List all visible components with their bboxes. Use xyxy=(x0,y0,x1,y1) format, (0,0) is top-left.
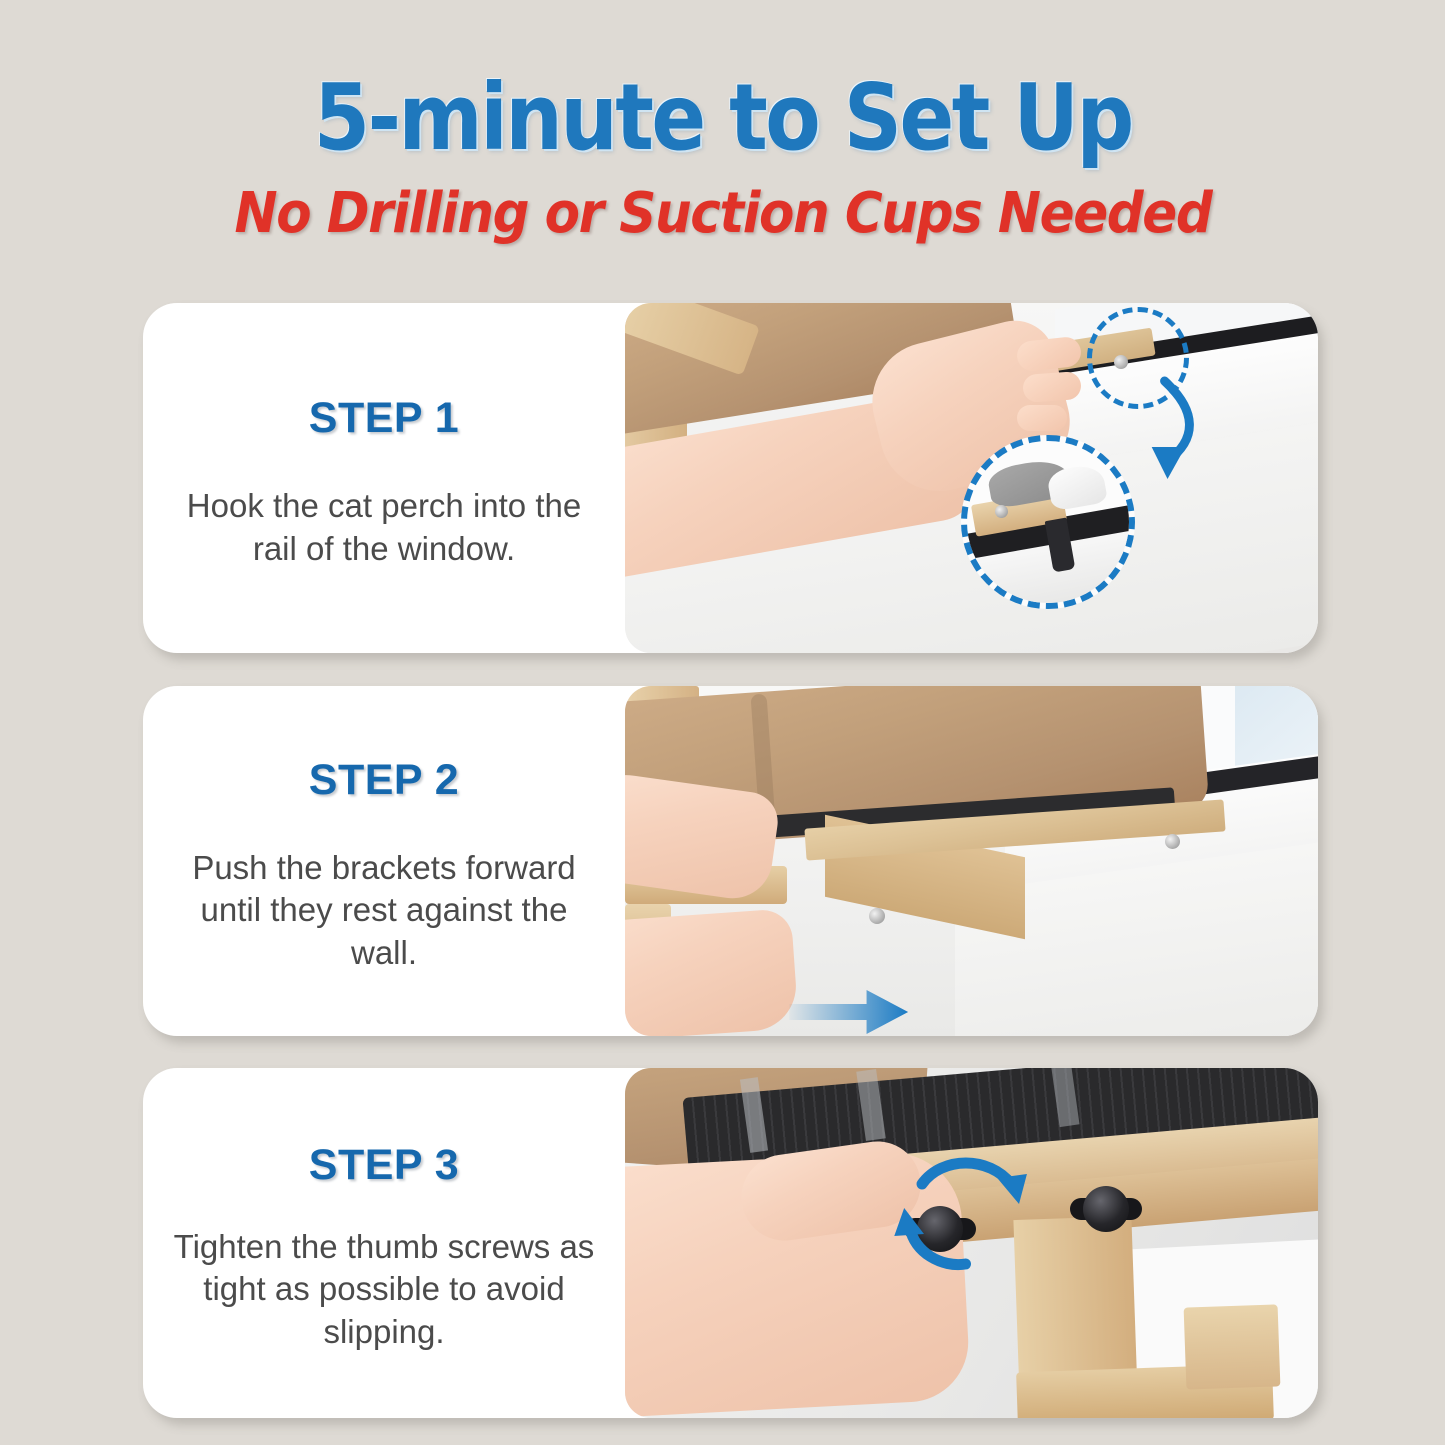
step-1-description: Hook the cat perch into the rail of the … xyxy=(164,485,604,569)
screw-icon xyxy=(869,908,885,924)
screw-icon xyxy=(1165,834,1180,849)
step-1-photo xyxy=(625,303,1318,653)
thumb-screw-knob xyxy=(1069,1172,1143,1246)
step-1-text-pane: STEP 1 Hook the cat perch into the rail … xyxy=(143,303,625,653)
callout-circle-small xyxy=(1087,307,1189,409)
step-3-photo xyxy=(625,1068,1318,1418)
step-2-text-pane: STEP 2 Push the brackets forward until t… xyxy=(143,686,625,1036)
step-2-description: Push the brackets forward until they res… xyxy=(164,847,604,974)
finger xyxy=(1022,371,1082,403)
thumb-screw-knob xyxy=(903,1192,977,1266)
step-3-text-pane: STEP 3 Tighten the thumb screws as tight… xyxy=(143,1068,625,1418)
callout-circle-magnifier xyxy=(961,435,1135,609)
step-card-1: STEP 1 Hook the cat perch into the rail … xyxy=(143,303,1318,653)
step-card-2: STEP 2 Push the brackets forward until t… xyxy=(143,686,1318,1036)
finger xyxy=(1017,405,1067,431)
step-2-label: STEP 2 xyxy=(309,756,459,805)
bracket-hook xyxy=(1184,1304,1281,1389)
hand-lower xyxy=(625,908,799,1036)
step-2-photo xyxy=(625,686,1318,1036)
page-subtitle: No Drilling or Suction Cups Needed xyxy=(234,186,1211,242)
screw-icon xyxy=(995,505,1008,518)
step-3-description: Tighten the thumb screws as tight as pos… xyxy=(164,1226,604,1353)
step-1-label: STEP 1 xyxy=(309,394,459,443)
step-3-label: STEP 3 xyxy=(309,1141,459,1190)
header-block: 5-minute to Set Up No Drilling or Suctio… xyxy=(0,0,1445,295)
page-title: 5-minute to Set Up xyxy=(314,72,1132,164)
step-card-3: STEP 3 Tighten the thumb screws as tight… xyxy=(143,1068,1318,1418)
